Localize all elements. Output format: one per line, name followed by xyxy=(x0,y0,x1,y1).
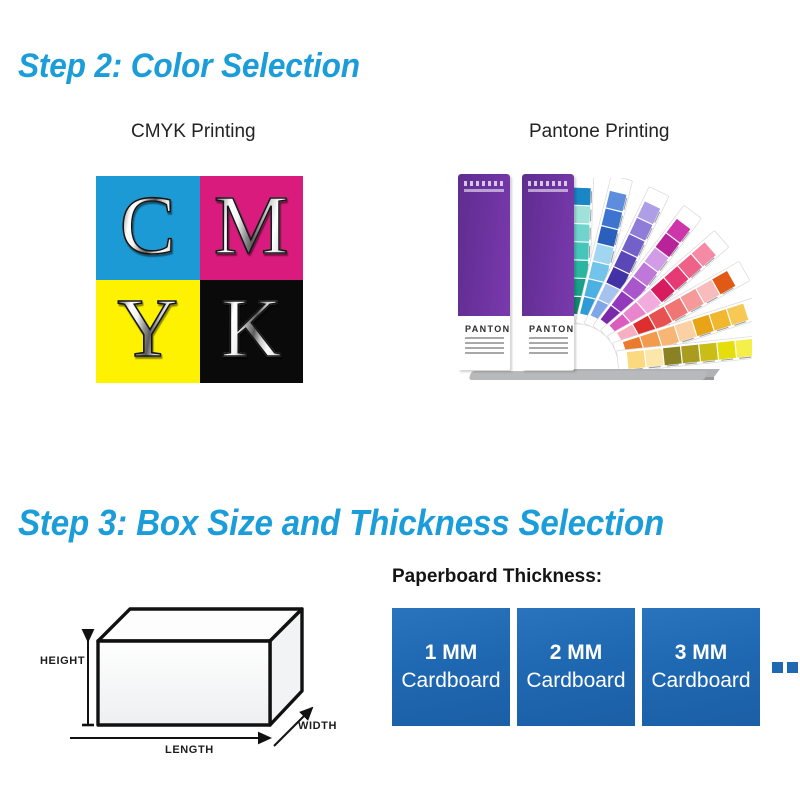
pantone-printing-caption: Pantone Printing xyxy=(529,121,670,143)
thickness-size-2mm: 2 MM xyxy=(550,639,603,667)
pantone-fan-deck[interactable]: FORMULA GUIDE Solid Coated PANTONE FORMU… xyxy=(452,166,752,386)
thickness-size-1mm: 1 MM xyxy=(425,639,478,667)
dimension-label-width: WIDTH xyxy=(298,720,337,732)
step-3-heading: Step 3: Box Size and Thickness Selection xyxy=(18,502,664,544)
deck-shadow xyxy=(469,371,708,380)
cmyk-cell-yellow[interactable]: Y xyxy=(96,280,200,384)
pantone-wordmark-uncoated: PANTONE xyxy=(529,324,574,334)
guide-cover-dot-strip xyxy=(528,181,568,186)
cmyk-color-block: C M Y K xyxy=(96,176,303,383)
thickness-option-2mm[interactable]: 2 MM Cardboard xyxy=(517,608,635,726)
paperboard-thickness-title: Paperboard Thickness: xyxy=(392,566,602,588)
cmyk-printing-caption: CMYK Printing xyxy=(131,121,256,143)
thickness-option-1mm[interactable]: 1 MM Cardboard xyxy=(392,608,510,726)
paperboard-thickness-section: Paperboard Thickness: 1 MM Cardboard 2 M… xyxy=(392,566,792,756)
guide-cover-subhead-rule xyxy=(528,189,568,192)
guide-fineprint-coated xyxy=(465,337,504,357)
box-dimensions-diagram: HEIGHT LENGTH WIDTH xyxy=(30,578,370,773)
cmyk-cell-black[interactable]: K xyxy=(200,280,304,384)
thickness-material-2mm: Cardboard xyxy=(526,667,625,695)
thickness-option-3mm[interactable]: 3 MM Cardboard xyxy=(642,608,760,726)
slide-canvas: Step 2: Color Selection CMYK Printing Pa… xyxy=(0,0,800,800)
dimension-label-height: HEIGHT xyxy=(40,655,85,667)
thickness-option-list: 1 MM Cardboard 2 MM Cardboard 3 MM Cardb… xyxy=(392,608,800,726)
guide-cover-panel: FORMULA GUIDE Solid Coated xyxy=(458,174,510,316)
pantone-wordmark-coated: PANTONE xyxy=(465,324,510,334)
cmyk-letter-m: M xyxy=(214,184,289,268)
cmyk-cell-cyan[interactable]: C xyxy=(96,176,200,280)
cmyk-cell-magenta[interactable]: M xyxy=(200,176,304,280)
guide-cover-panel: FORMULA GUIDE Solid Uncoated xyxy=(522,174,574,316)
cmyk-letter-k: K xyxy=(221,287,282,371)
cmyk-letter-c: C xyxy=(120,184,176,268)
formula-guide-solid-uncoated[interactable]: FORMULA GUIDE Solid Uncoated PANTONE xyxy=(522,174,574,370)
guide-cover-dot-strip xyxy=(464,181,504,186)
formula-guide-solid-coated[interactable]: FORMULA GUIDE Solid Coated PANTONE xyxy=(458,174,510,370)
thickness-size-3mm: 3 MM xyxy=(675,639,728,667)
cmyk-letter-y: Y xyxy=(117,287,178,371)
guide-cover-subhead-rule xyxy=(464,189,504,192)
guide-fineprint-uncoated xyxy=(529,337,568,357)
thickness-material-1mm: Cardboard xyxy=(401,667,500,695)
thickness-material-3mm: Cardboard xyxy=(651,667,750,695)
dimension-label-length: LENGTH xyxy=(165,744,214,756)
step-2-heading: Step 2: Color Selection xyxy=(18,47,360,86)
more-thickness-options-ellipsis-icon[interactable] xyxy=(772,662,800,673)
